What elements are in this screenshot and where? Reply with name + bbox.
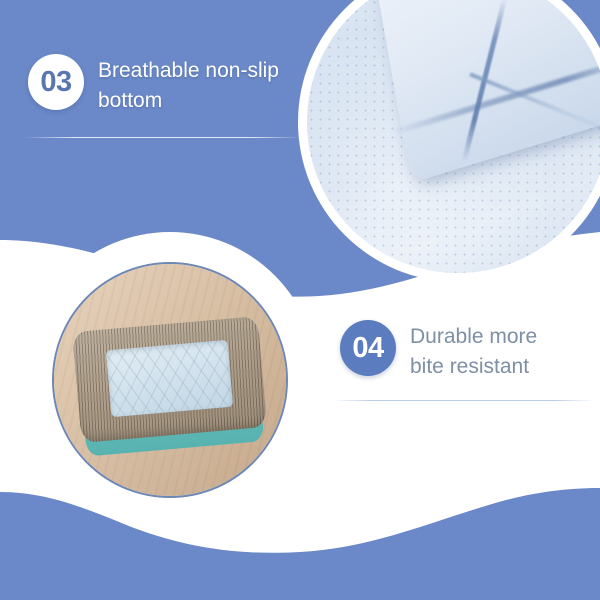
feature-divider-04 bbox=[332, 400, 594, 401]
pet-bed-photo bbox=[54, 264, 286, 496]
feature-text-04: Durable more bite resistant bbox=[410, 320, 537, 382]
feature-badge-04: 04 bbox=[340, 320, 396, 376]
feature-block-03: 03 Breathable non-slip bottom bbox=[28, 54, 328, 116]
pet-bed-cooling-panel bbox=[105, 340, 233, 418]
pet-bed-quilt-pattern bbox=[105, 340, 233, 418]
feature-divider-03 bbox=[24, 137, 302, 138]
product-feature-poster: 03 Breathable non-slip bottom 04 Durable… bbox=[0, 0, 600, 600]
pet-bed bbox=[72, 316, 267, 452]
feature-text-03: Breathable non-slip bottom bbox=[98, 54, 279, 116]
feature-badge-03: 03 bbox=[28, 54, 84, 110]
feature-block-04: 04 Durable more bite resistant bbox=[340, 320, 590, 382]
non-slip-fabric-photo bbox=[307, 0, 600, 273]
